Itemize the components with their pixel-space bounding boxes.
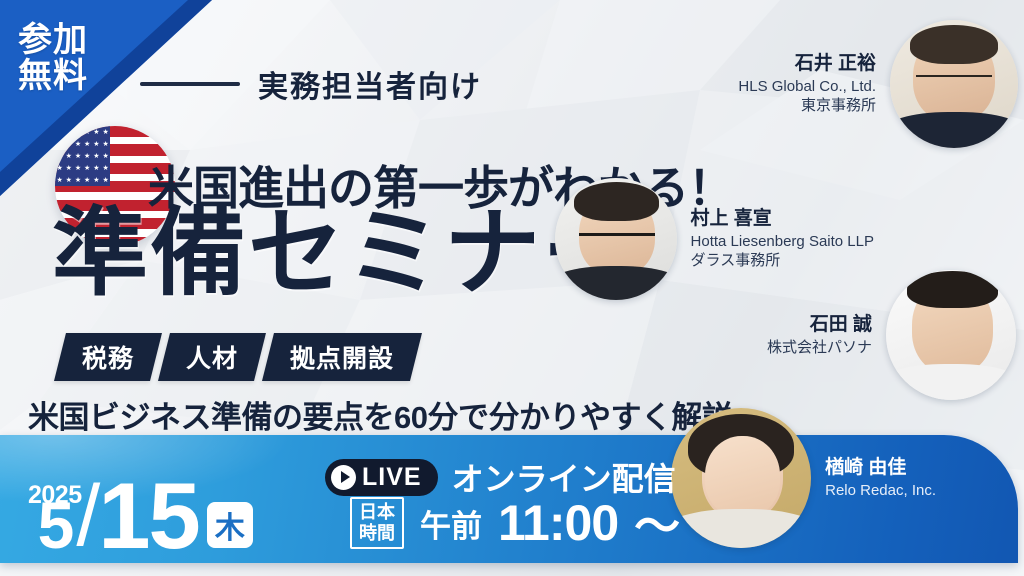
play-icon (331, 465, 356, 490)
event-date: 2025 5 / 15 木 (28, 477, 253, 554)
time-ampm: 午前 (420, 501, 482, 546)
speaker-ishii-text: 石井 正裕 HLS Global Co., Ltd. 東京事務所 (738, 52, 876, 116)
speaker-name: 石田 誠 (767, 313, 872, 338)
eyebrow-text: 実務担当者向け (258, 62, 482, 106)
speaker-ishii: 石井 正裕 HLS Global Co., Ltd. 東京事務所 (738, 20, 1018, 148)
speaker-narasaki: 楢崎 由佳 Relo Redac, Inc. (671, 408, 936, 548)
time-suffix: 〜 (634, 490, 680, 556)
timezone-badge: 日本 時間 (350, 497, 404, 548)
topic-tag-tax: 税務 (54, 333, 162, 381)
speaker-location: ダラス事務所 (691, 251, 874, 271)
live-label: LIVE (362, 463, 422, 492)
speaker-photo-ishida (886, 270, 1016, 400)
speaker-location: 東京事務所 (738, 96, 876, 116)
timezone-line2: 時間 (359, 523, 395, 544)
speaker-narasaki-text: 楢崎 由佳 Relo Redac, Inc. (825, 456, 936, 500)
date-day-of-week: 木 (207, 502, 253, 548)
topic-tag-hr: 人材 (158, 333, 266, 381)
speaker-org: HLS Global Co., Ltd. (738, 77, 876, 97)
speaker-ishida-text: 石田 誠 株式会社パソナ (767, 313, 872, 357)
date-month: 5 (38, 497, 75, 554)
ribbon-label: 参加 無料 (18, 22, 118, 94)
portrait-illustration (671, 408, 811, 548)
portrait-illustration (886, 270, 1016, 400)
topic-tag-office-label: 拠点開設 (290, 339, 394, 375)
speaker-photo-ishii (890, 20, 1018, 148)
subtitle: 米国ビジネス準備の要点を60分で分かりやすく解説 (28, 392, 732, 437)
topic-tag-office: 拠点開設 (262, 333, 422, 381)
speaker-org: Hotta Liesenberg Saito LLP (691, 232, 874, 252)
speaker-photo-murakami (555, 178, 677, 300)
speaker-ishida: 石田 誠 株式会社パソナ (767, 270, 1016, 400)
event-time-row: 日本 時間 午前 11:00 〜 (350, 490, 680, 556)
date-day: 15 (98, 477, 199, 554)
ribbon-label-line2: 無料 (18, 58, 118, 94)
topic-tag-tax-label: 税務 (82, 339, 134, 375)
webinar-banner: 参加 無料 実務担当者向け ★★★★★★ ★★★★★★ ★★★★★★ ★★★★★… (0, 0, 1024, 576)
ribbon-label-line1: 参加 (18, 22, 118, 58)
free-participation-ribbon: 参加 無料 (0, 0, 240, 200)
speaker-name: 村上 喜宣 (691, 207, 874, 232)
speaker-name: 楢崎 由佳 (825, 456, 936, 481)
topic-tag-hr-label: 人材 (186, 339, 238, 375)
speaker-org: 株式会社パソナ (767, 338, 872, 358)
speaker-murakami-text: 村上 喜宣 Hotta Liesenberg Saito LLP ダラス事務所 (691, 207, 874, 271)
speaker-photo-narasaki (671, 408, 811, 548)
time-value: 11:00 (498, 498, 618, 548)
speaker-name: 石井 正裕 (738, 52, 876, 77)
headline-title: 準備セミナー (52, 206, 640, 302)
date-separator: / (76, 481, 100, 552)
portrait-illustration (890, 20, 1018, 148)
topic-tags: 税務 人材 拠点開設 (60, 333, 416, 381)
speaker-org: Relo Redac, Inc. (825, 481, 936, 501)
timezone-line1: 日本 (359, 502, 395, 523)
portrait-illustration (555, 178, 677, 300)
